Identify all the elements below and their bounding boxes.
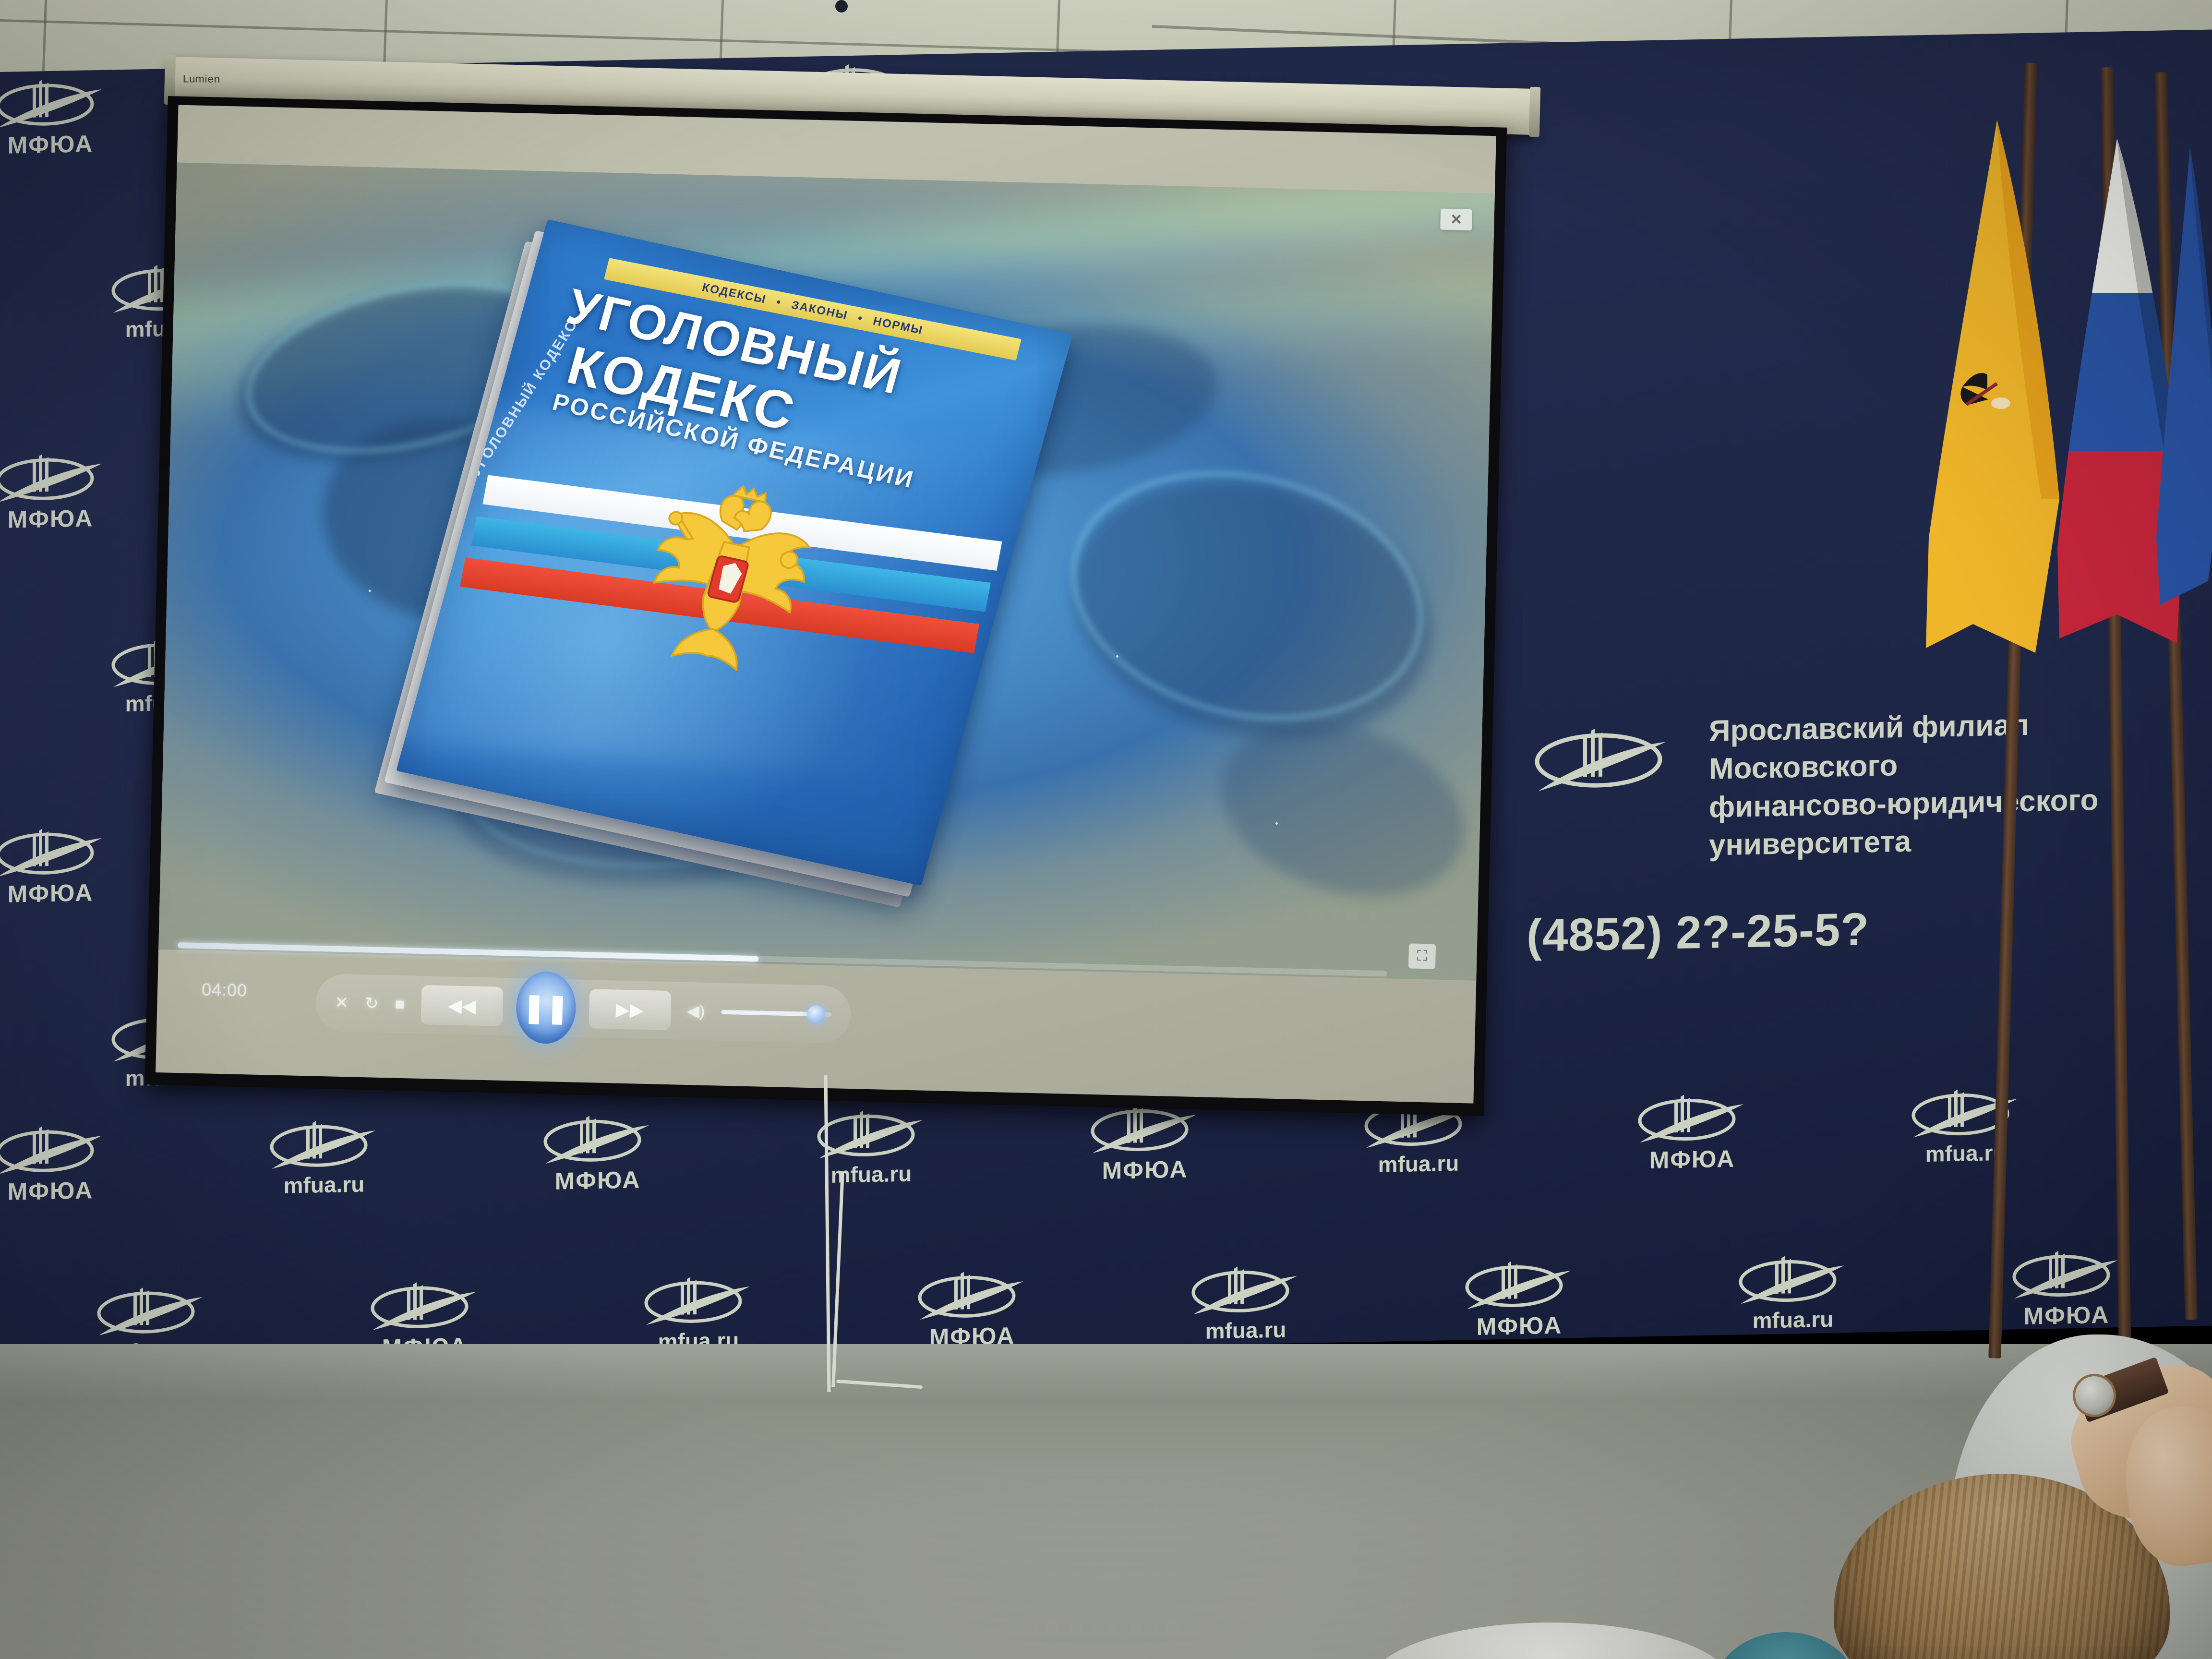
banner-logo-label: mfua.ru: [1887, 1139, 2045, 1167]
banner-logo-tile: mfua.ru: [1714, 1250, 1872, 1334]
banner-logo-label: mfua.ru: [792, 1160, 950, 1189]
banner-logo-label: МФЮА: [0, 1176, 130, 1206]
ceiling-sensor-icon: [835, 0, 848, 12]
banner-logo-label: mfua.ru: [245, 1170, 403, 1199]
mfua-logo-icon: [1733, 1251, 1853, 1307]
book-band-sep-2: •: [856, 312, 865, 325]
banner-logo-tile: МФЮА: [0, 823, 130, 909]
banner-logo-tile: МФЮА: [1440, 1256, 1599, 1341]
play-pause-button[interactable]: ❚❚: [515, 971, 576, 1045]
institution-info-block: Ярославский филиал Московского финансово…: [1527, 721, 1685, 799]
mute-icon[interactable]: ◀): [687, 1003, 705, 1020]
mfua-logo-icon: [91, 1283, 211, 1339]
wristwatch-face: [2073, 1374, 2116, 1417]
institution-phone: (4852) 2?-25-5?: [1527, 903, 1869, 962]
banner-logo-label: МФЮА: [0, 878, 130, 909]
banner-logo-label: МФЮА: [0, 504, 130, 534]
banner-logo-label: МФЮА: [518, 1165, 677, 1196]
banner-logo-label: mfua.ru: [1339, 1149, 1498, 1178]
book-band-word-1: КОДЕКСЫ: [700, 281, 768, 306]
projector-screen: КОДЕКСЫ • ЗАКОНЫ • НОРМЫ УГОЛОВНЫЙ КОДЕК…: [144, 96, 1507, 1116]
banner-logo-tile: mfua.ru: [245, 1116, 403, 1199]
volume-slider-knob[interactable]: [807, 1005, 826, 1023]
mfua-logo-icon: [2007, 1246, 2127, 1302]
close-icon[interactable]: ✕: [1440, 209, 1472, 231]
rewind-button[interactable]: ◀◀: [421, 985, 503, 1026]
volume-slider-fill: [721, 1010, 816, 1016]
roller-brand-label: Lumien: [183, 72, 220, 85]
banner-logo-tile: МФЮА: [518, 1110, 677, 1196]
mfua-logo-icon: [1186, 1262, 1306, 1318]
mfua-logo-icon: [264, 1116, 384, 1172]
elapsed-time-label: 04:00: [202, 979, 248, 1000]
mfua-logo-icon: [912, 1267, 1032, 1323]
banner-logo-label: МФЮА: [1613, 1144, 1771, 1175]
projection-surface: КОДЕКСЫ • ЗАКОНЫ • НОРМЫ УГОЛОВНЫЙ КОДЕК…: [156, 105, 1496, 1104]
banner-logo-tile: МФЮА: [1066, 1100, 1224, 1185]
video-player-controls[interactable]: 04:00 ✕ ↻ ■ ◀◀ ❚❚ ▶▶ ◀): [156, 928, 1477, 1104]
banner-logo-tile: mfua.ru: [619, 1272, 778, 1355]
fast-forward-button[interactable]: ▶▶: [589, 989, 671, 1030]
mfua-logo-icon: [811, 1106, 931, 1162]
mfua-logo-icon: [538, 1111, 658, 1167]
transport-controls-pod[interactable]: ✕ ↻ ■ ◀◀ ❚❚ ▶▶ ◀): [315, 974, 852, 1044]
banner-logo-label: mfua.ru: [1166, 1316, 1325, 1345]
banner-logo-label: МФЮА: [0, 129, 130, 160]
banner-logo-tile: МФЮА: [0, 74, 130, 160]
shuffle-icon[interactable]: ✕: [335, 995, 349, 1011]
institution-line-3: финансово-юридического: [1709, 781, 2098, 827]
banner-logo-tile: МФЮА: [1613, 1089, 1771, 1175]
mfua-logo-icon: [365, 1277, 485, 1334]
institution-line-4: университета: [1709, 819, 2098, 865]
banner-logo-tile: МФЮА: [0, 449, 130, 534]
banner-logo-tile: МФЮА: [893, 1266, 1051, 1352]
third-flag: [2146, 144, 2212, 614]
banner-logo-tile: mfua.ru: [792, 1105, 950, 1189]
mfua-logo-icon: [0, 1121, 110, 1178]
mfua-logo-icon: [638, 1272, 758, 1328]
mfua-logo-icon: [0, 824, 110, 880]
banner-logo-tile: МФЮА: [0, 1121, 130, 1206]
banner-logo-tile: mfua.ru: [1887, 1084, 2045, 1167]
mfua-logo-icon: [1632, 1090, 1752, 1146]
banner-logo-tile: mfua.ru: [1166, 1261, 1325, 1345]
mfua-logo-icon: [1527, 721, 1685, 796]
stop-icon[interactable]: ■: [395, 996, 405, 1012]
book-band-word-2: ЗАКОНЫ: [790, 299, 849, 323]
mfua-logo-icon: [0, 449, 110, 505]
projected-video[interactable]: КОДЕКСЫ • ЗАКОНЫ • НОРМЫ УГОЛОВНЫЙ КОДЕК…: [158, 162, 1495, 980]
book-band-sep-1: •: [775, 295, 783, 309]
banner-logo-label: mfua.ru: [1714, 1305, 1872, 1334]
banner-logo-label: МФЮА: [1066, 1154, 1224, 1185]
volume-slider[interactable]: [721, 1010, 831, 1016]
seek-bar-fill: [178, 942, 758, 962]
book-band-word-3: НОРМЫ: [871, 314, 924, 337]
mfua-logo-icon: [1459, 1256, 1579, 1312]
banner-logo-label: МФЮА: [1440, 1310, 1599, 1341]
repeat-icon[interactable]: ↻: [365, 995, 379, 1012]
mfua-logo-icon: [0, 75, 110, 131]
